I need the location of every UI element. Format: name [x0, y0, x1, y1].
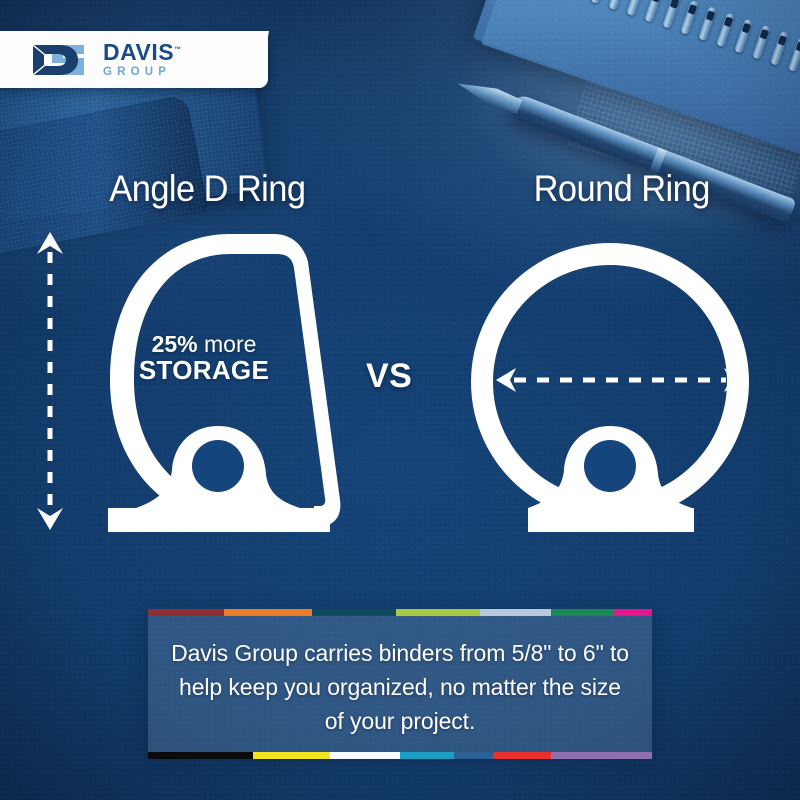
vertical-double-arrow-dashed-icon — [33, 230, 67, 532]
stripe-segment — [400, 752, 454, 759]
brand-wordmark: DAVIS™ GROUP — [103, 41, 181, 79]
stripe-segment — [614, 609, 652, 616]
brand-name-top: DAVIS™ — [103, 41, 181, 64]
storage-callout: 25% more STORAGE — [120, 333, 288, 384]
storage-callout-line1: 25% more — [120, 333, 288, 357]
stripe-segment — [253, 752, 331, 759]
left-heading: Angle D Ring — [109, 168, 305, 210]
trademark-symbol: ™ — [174, 46, 181, 53]
stripe-segment — [493, 752, 551, 759]
color-stripe-bottom — [148, 752, 652, 759]
storage-callout-line2: STORAGE — [120, 357, 288, 384]
dg-monogram-icon — [32, 43, 90, 77]
infographic-canvas: DAVIS™ GROUP Angle D Ring Round Ring — [0, 0, 800, 800]
bottom-info-banner: Davis Group carries binders from 5/8" to… — [148, 609, 652, 753]
stripe-segment — [148, 609, 224, 616]
stripe-segment — [224, 609, 312, 616]
stripe-segment — [454, 752, 493, 759]
brand-logo-plate: DAVIS™ GROUP — [0, 31, 268, 88]
right-heading: Round Ring — [534, 168, 710, 210]
storage-percent: 25% — [152, 331, 198, 357]
storage-more-word: more — [198, 331, 257, 357]
stripe-segment — [312, 609, 396, 616]
stripe-segment — [551, 609, 614, 616]
versus-label: VS — [366, 357, 412, 396]
stripe-segment — [396, 609, 480, 616]
horizontal-double-arrow-dashed-icon — [494, 365, 746, 395]
banner-line-3: of your project. — [148, 705, 652, 739]
brand-name-text: DAVIS — [103, 39, 174, 65]
brand-name-bottom: GROUP — [103, 67, 181, 79]
stripe-segment — [148, 752, 253, 759]
banner-message: Davis Group carries binders from 5/8" to… — [148, 637, 652, 738]
banner-line-2: help keep you organized, no matter the s… — [148, 671, 652, 705]
stripe-segment — [551, 752, 652, 759]
banner-line-1: Davis Group carries binders from 5/8" to… — [148, 637, 652, 671]
stripe-segment — [480, 609, 551, 616]
stripe-segment — [330, 752, 400, 759]
color-stripe-top — [148, 609, 652, 616]
